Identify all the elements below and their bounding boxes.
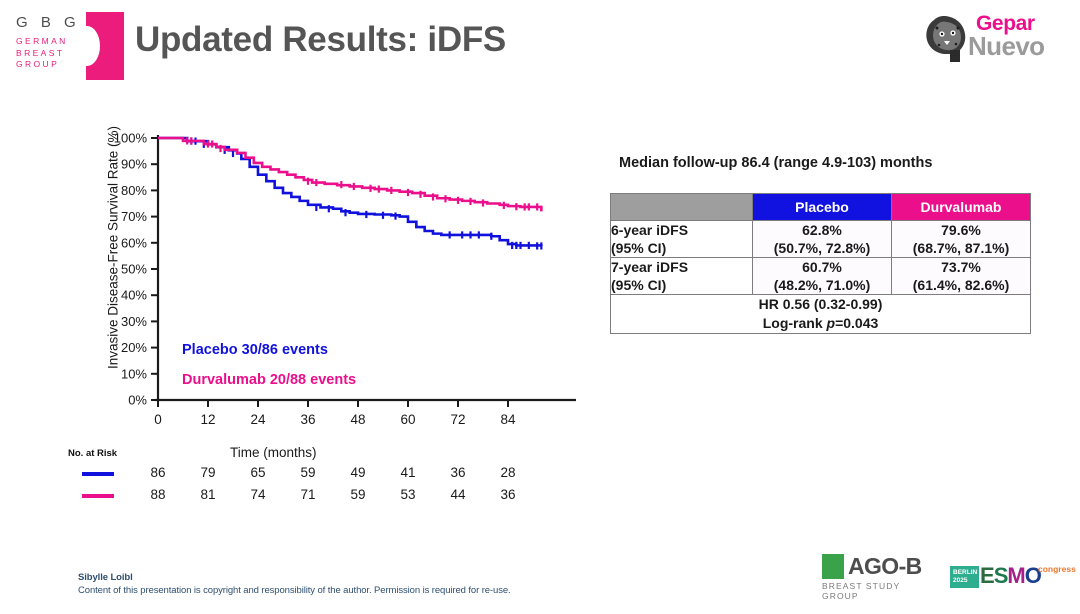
kaplan-meier-chart: Invasive Disease-Free Survival Rate (%) … <box>60 130 580 530</box>
y-tick-label: 70% <box>121 209 147 224</box>
x-tick-label: 36 <box>300 412 315 427</box>
legend-placebo: Placebo 30/86 events <box>182 342 328 358</box>
esmo-congress-logo: BERLIN 2025 ESMO congress <box>950 562 1068 592</box>
ci-durvalumab-7-year: (61.4%, 82.6%) <box>892 276 1030 294</box>
esmo-suffix: congress <box>1038 564 1076 574</box>
x-tick-label: 60 <box>400 412 415 427</box>
y-tick-label: 30% <box>121 314 147 329</box>
risk-value: 59 <box>293 465 323 480</box>
risk-legend-line-placebo <box>82 472 114 476</box>
ago-mark-icon <box>822 554 844 579</box>
risk-value: 79 <box>193 465 223 480</box>
gbg-abbreviation: G B G <box>16 14 80 31</box>
esmo-city-line-2: 2025 <box>953 577 979 585</box>
table-row: 6-year iDFS (95% CI) 62.8% (50.7%, 72.8%… <box>611 221 1031 258</box>
results-panel: Median follow-up 86.4 (range 4.9-103) mo… <box>610 155 1040 334</box>
y-tick-label: 10% <box>121 366 147 381</box>
header-placebo: Placebo <box>753 194 892 221</box>
row-label-7-year: 7-year iDFS (95% CI) <box>611 258 753 295</box>
footer-author: Sibylle Loibl <box>78 572 511 583</box>
cell-placebo-6-year: 62.8% (50.7%, 72.8%) <box>753 221 892 258</box>
ago-b-logo: AGO-B BREAST STUDY GROUP <box>822 554 927 594</box>
y-tick-label: 80% <box>121 183 147 198</box>
cell-durvalumab-7-year: 73.7% (61.4%, 82.6%) <box>892 258 1031 295</box>
y-tick-label: 90% <box>121 157 147 172</box>
value-durvalumab-6-year: 79.6% <box>892 221 1030 239</box>
cell-placebo-7-year: 60.7% (48.2%, 71.0%) <box>753 258 892 295</box>
esmo-city-badge: BERLIN 2025 <box>950 566 979 588</box>
row-label-line-2: (95% CI) <box>611 276 752 294</box>
risk-value: 41 <box>393 465 423 480</box>
risk-value: 86 <box>143 465 173 480</box>
risk-value: 81 <box>193 487 223 502</box>
results-table: Placebo Durvalumab 6-year iDFS (95% CI) … <box>610 193 1031 334</box>
x-tick-label: 48 <box>350 412 365 427</box>
legend-durvalumab: Durvalumab 20/88 events <box>182 372 356 388</box>
risk-value: 44 <box>443 487 473 502</box>
table-header-row: Placebo Durvalumab <box>611 194 1031 221</box>
risk-value: 49 <box>343 465 373 480</box>
y-tick-label: 40% <box>121 288 147 303</box>
logrank-pvalue: Log-rank p=0.043 <box>611 314 1030 333</box>
survival-curve-placebo <box>158 138 541 246</box>
x-tick-label: 24 <box>250 412 266 427</box>
value-durvalumab-7-year: 73.7% <box>892 258 1030 276</box>
esmo-city-line-1: BERLIN <box>953 569 979 577</box>
risk-value: 74 <box>243 487 273 502</box>
risk-value: 36 <box>493 487 523 502</box>
x-axis-title: Time (months) <box>230 445 317 460</box>
ago-name: AGO-B <box>848 553 922 580</box>
header-durvalumab: Durvalumab <box>892 194 1031 221</box>
gbg-name-line-1: GERMAN <box>16 36 68 48</box>
risk-legend-line-durvalumab <box>82 494 114 498</box>
risk-value: 88 <box>143 487 173 502</box>
nuevo-word: Nuevo <box>968 31 1044 62</box>
geparnuevo-study-logo: Gepar Nuevo <box>902 8 1062 70</box>
row-label-line-1: 7-year iDFS <box>611 258 752 276</box>
cell-durvalumab-6-year: 79.6% (68.7%, 87.1%) <box>892 221 1031 258</box>
hazard-ratio: HR 0.56 (0.32-0.99) <box>611 295 1030 314</box>
risk-value: 53 <box>393 487 423 502</box>
risk-value: 28 <box>493 465 523 480</box>
gbg-name-line-2: BREAST <box>16 48 68 60</box>
y-tick-label: 0% <box>128 393 147 408</box>
page-title: Updated Results: iDFS <box>135 20 506 60</box>
row-label-line-2: (95% CI) <box>611 239 752 257</box>
risk-value: 59 <box>343 487 373 502</box>
x-tick-label: 12 <box>200 412 215 427</box>
value-placebo-6-year: 62.8% <box>753 221 891 239</box>
ci-placebo-7-year: (48.2%, 71.0%) <box>753 276 891 294</box>
risk-value: 65 <box>243 465 273 480</box>
risk-row-placebo: 8679655949413628 <box>142 465 542 481</box>
gbg-name-line-3: GROUP <box>16 59 68 71</box>
x-tick-label: 84 <box>500 412 516 427</box>
risk-row-durvalumab: 8881747159534436 <box>142 487 542 503</box>
row-label-6-year: 6-year iDFS (95% CI) <box>611 221 753 258</box>
gbg-full-name: GERMAN BREAST GROUP <box>16 36 68 71</box>
ago-subtitle: BREAST STUDY GROUP <box>822 581 927 601</box>
ci-durvalumab-6-year: (68.7%, 87.1%) <box>892 239 1030 257</box>
y-tick-label: 20% <box>121 340 147 355</box>
logrank-prefix: Log-rank <box>763 315 827 331</box>
gbg-logo: G B G GERMAN BREAST GROUP <box>12 12 124 80</box>
value-placebo-7-year: 60.7% <box>753 258 891 276</box>
slide-footer: Sibylle Loibl Content of this presentati… <box>78 572 511 596</box>
x-tick-label: 0 <box>154 412 162 427</box>
ci-placebo-6-year: (50.7%, 72.8%) <box>753 239 891 257</box>
header-blank <box>611 194 753 221</box>
y-tick-label: 100% <box>114 131 148 146</box>
risk-value: 36 <box>443 465 473 480</box>
logrank-p-symbol: p <box>827 315 836 331</box>
gbg-ribbon-notch <box>74 26 100 66</box>
risk-table-title: No. at Risk <box>68 448 117 459</box>
statistics-cell: HR 0.56 (0.32-0.99) Log-rank p=0.043 <box>611 295 1031 334</box>
footer-copyright: Content of this presentation is copyrigh… <box>78 585 511 596</box>
survival-plot: 0%10%20%30%40%50%60%70%80%90%100%0122436… <box>60 130 580 440</box>
row-label-line-1: 6-year iDFS <box>611 221 752 239</box>
median-followup-text: Median follow-up 86.4 (range 4.9-103) mo… <box>619 155 1040 171</box>
risk-value: 71 <box>293 487 323 502</box>
logrank-suffix: =0.043 <box>835 315 878 331</box>
table-statistics-row: HR 0.56 (0.32-0.99) Log-rank p=0.043 <box>611 295 1031 334</box>
esmo-name: ESMO <box>980 563 1041 589</box>
y-tick-label: 50% <box>121 262 147 277</box>
slide-header: G B G GERMAN BREAST GROUP Updated Result… <box>0 0 1080 95</box>
table-row: 7-year iDFS (95% CI) 60.7% (48.2%, 71.0%… <box>611 258 1031 295</box>
y-tick-label: 60% <box>121 235 147 250</box>
x-tick-label: 72 <box>450 412 465 427</box>
